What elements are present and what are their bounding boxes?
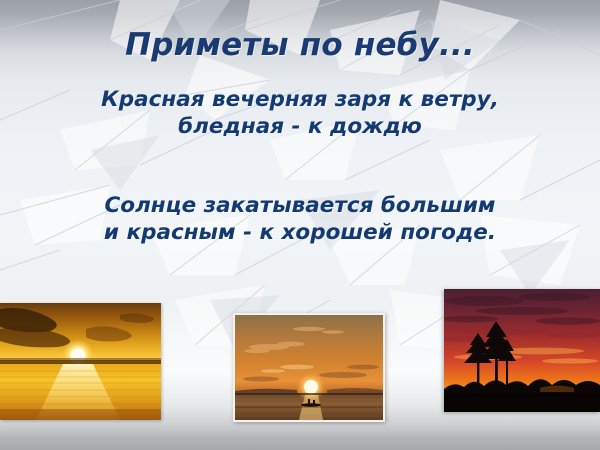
page-title: Приметы по небу... <box>0 0 600 63</box>
proverb-paragraph-2: Солнце закатывается большим и красным - … <box>0 192 600 246</box>
image-sunset-with-boat <box>233 313 385 422</box>
slide-text-area: Приметы по небу... Красная вечерняя заря… <box>0 0 600 63</box>
image-sunset-with-trees <box>444 289 600 412</box>
proverb-paragraph-1: Красная вечерняя заря к ветру, бледная -… <box>0 86 600 140</box>
image-sunset-over-sea-golden <box>0 303 161 420</box>
presentation-slide: Приметы по небу... Красная вечерняя заря… <box>0 0 600 450</box>
